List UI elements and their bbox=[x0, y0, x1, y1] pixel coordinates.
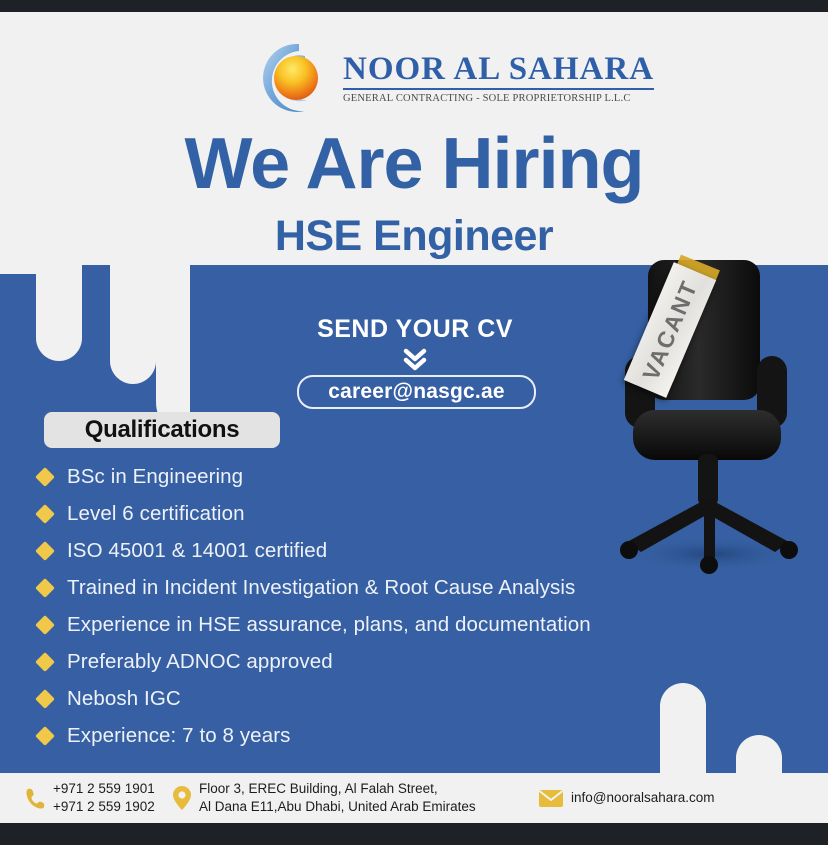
footer-address: Floor 3, EREC Building, Al Falah Street,… bbox=[172, 780, 476, 816]
footer-address-1: Floor 3, EREC Building, Al Falah Street, bbox=[199, 780, 476, 798]
location-pin-icon bbox=[172, 785, 192, 811]
list-item: Preferably ADNOC approved bbox=[38, 643, 738, 680]
hiring-poster: NOOR AL SAHARA GENERAL CONTRACTING - SOL… bbox=[0, 0, 828, 845]
list-item-label: Preferably ADNOC approved bbox=[67, 650, 333, 674]
footer-contact-bar: +971 2 559 1901 +971 2 559 1902 Floor 3,… bbox=[0, 773, 828, 823]
logo-divider bbox=[343, 88, 654, 90]
logo-company-name: NOOR AL SAHARA bbox=[343, 52, 654, 87]
list-item-label: ISO 45001 & 14001 certified bbox=[67, 539, 327, 563]
cv-email-button[interactable]: career@nasgc.ae bbox=[297, 375, 536, 409]
diamond-bullet-icon bbox=[35, 615, 55, 635]
list-item-label: Nebosh IGC bbox=[67, 687, 181, 711]
list-item: Experience in HSE assurance, plans, and … bbox=[38, 606, 738, 643]
list-item: Trained in Incident Investigation & Root… bbox=[38, 569, 738, 606]
list-item-label: Experience: 7 to 8 years bbox=[67, 724, 290, 748]
footer-phone-1: +971 2 559 1901 bbox=[53, 780, 155, 798]
qualifications-heading: Qualifications bbox=[44, 412, 280, 448]
list-item-label: Experience in HSE assurance, plans, and … bbox=[67, 613, 591, 637]
page-title: We Are Hiring bbox=[0, 128, 828, 200]
top-letterbox-bar bbox=[0, 0, 828, 12]
diamond-bullet-icon bbox=[35, 467, 55, 487]
list-item: BSc in Engineering bbox=[38, 458, 738, 495]
diamond-bullet-icon bbox=[35, 541, 55, 561]
list-item-label: Level 6 certification bbox=[67, 502, 245, 526]
phone-icon bbox=[24, 786, 46, 810]
diamond-bullet-icon bbox=[35, 504, 55, 524]
footer-address-2: Al Dana E11,Abu Dhabi, United Arab Emira… bbox=[199, 798, 476, 816]
diamond-bullet-icon bbox=[35, 726, 55, 746]
footer-phone[interactable]: +971 2 559 1901 +971 2 559 1902 bbox=[24, 780, 155, 816]
bottom-letterbox-bar bbox=[0, 823, 828, 845]
diamond-bullet-icon bbox=[35, 578, 55, 598]
company-logo: NOOR AL SAHARA GENERAL CONTRACTING - SOL… bbox=[255, 38, 585, 118]
list-item: Experience: 7 to 8 years bbox=[38, 717, 738, 754]
list-item: Nebosh IGC bbox=[38, 680, 738, 717]
double-chevron-down-icon bbox=[180, 348, 650, 377]
list-item: Level 6 certification bbox=[38, 495, 738, 532]
qualifications-list: BSc in Engineering Level 6 certification… bbox=[38, 458, 738, 754]
send-cv-label: SEND YOUR CV bbox=[180, 315, 650, 344]
diamond-bullet-icon bbox=[35, 652, 55, 672]
diamond-bullet-icon bbox=[35, 689, 55, 709]
logo-tagline: GENERAL CONTRACTING - SOLE PROPRIETORSHI… bbox=[343, 93, 654, 104]
sun-crescent-logo-icon bbox=[255, 39, 333, 117]
list-item-label: BSc in Engineering bbox=[67, 465, 243, 489]
footer-email[interactable]: info@nooralsahara.com bbox=[538, 789, 715, 808]
envelope-icon bbox=[538, 789, 564, 808]
list-item-label: Trained in Incident Investigation & Root… bbox=[67, 576, 575, 600]
list-item: ISO 45001 & 14001 certified bbox=[38, 532, 738, 569]
footer-phone-2: +971 2 559 1902 bbox=[53, 798, 155, 816]
footer-email-value: info@nooralsahara.com bbox=[571, 789, 715, 807]
job-role-title: HSE Engineer bbox=[0, 215, 828, 258]
